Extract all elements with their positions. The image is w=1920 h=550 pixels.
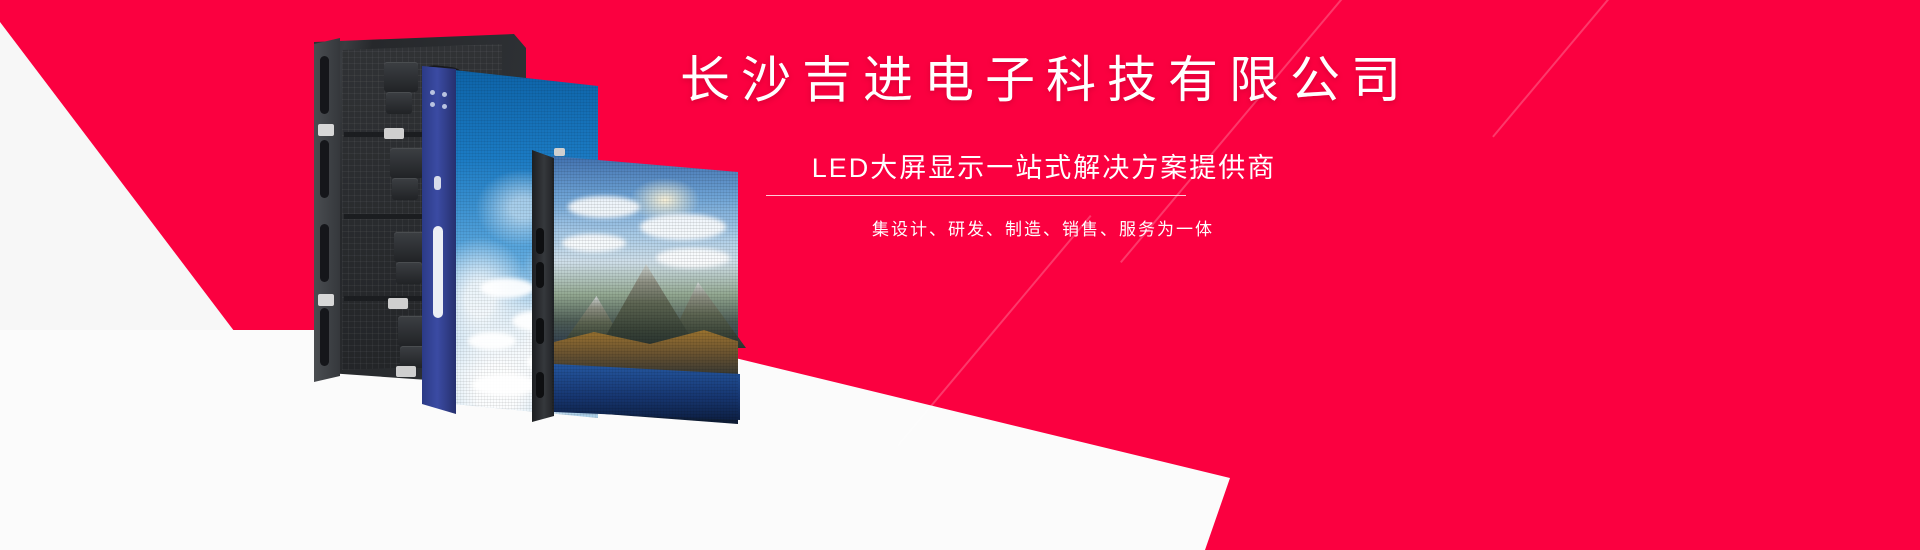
company-title: 长沙吉进电子科技有限公司: [680, 52, 1320, 110]
panel-latch: [434, 176, 441, 190]
led-pixel-grid: [552, 154, 738, 424]
panel-vent-slot: [536, 228, 544, 254]
panel-vent-slot: [536, 318, 544, 344]
led-product-group: [300, 28, 740, 423]
cabinet-vent-slot: [320, 308, 329, 366]
banner-copy: 长沙吉进电子科技有限公司 LED大屏显示一站式解决方案提供商 集设计、研发、制造…: [680, 52, 1320, 240]
cloud-shape: [480, 278, 534, 298]
subtitle-group: LED大屏显示一站式解决方案提供商 集设计、研发、制造、销售、服务为一体: [680, 152, 1320, 240]
panel-screw-icon: [430, 102, 435, 107]
panel-vent-slot: [536, 372, 544, 398]
banner-subtitle: LED大屏显示一站式解决方案提供商: [680, 152, 1320, 184]
panel-screw-icon: [442, 104, 447, 109]
cabinet-module: [386, 92, 412, 114]
cabinet-label: [318, 124, 334, 136]
divider-rule: [766, 195, 1186, 196]
cabinet-module: [390, 148, 424, 178]
cabinet-connector: [388, 298, 408, 309]
cabinet-vent-slot: [320, 140, 329, 198]
panel-handle: [433, 226, 443, 318]
cabinet-connector: [384, 128, 404, 139]
cabinet-module: [392, 178, 418, 200]
cabinet-vent-slot: [320, 224, 329, 282]
cabinet-vent-slot: [320, 56, 329, 114]
cabinet-module: [396, 262, 422, 284]
cabinet-connector: [396, 366, 416, 377]
cloud-shape: [472, 374, 538, 396]
panel-screw-icon: [430, 90, 435, 95]
panel-screw-icon: [442, 92, 447, 97]
cloud-shape: [468, 332, 516, 350]
panel-screw-icon: [554, 148, 565, 156]
company-hero-banner: 长沙吉进电子科技有限公司 LED大屏显示一站式解决方案提供商 集设计、研发、制造…: [0, 0, 1920, 550]
cabinet-label: [318, 294, 334, 306]
cabinet-module: [384, 62, 418, 92]
panel-vent-slot: [536, 262, 544, 288]
banner-tagline: 集设计、研发、制造、销售、服务为一体: [680, 215, 1320, 240]
